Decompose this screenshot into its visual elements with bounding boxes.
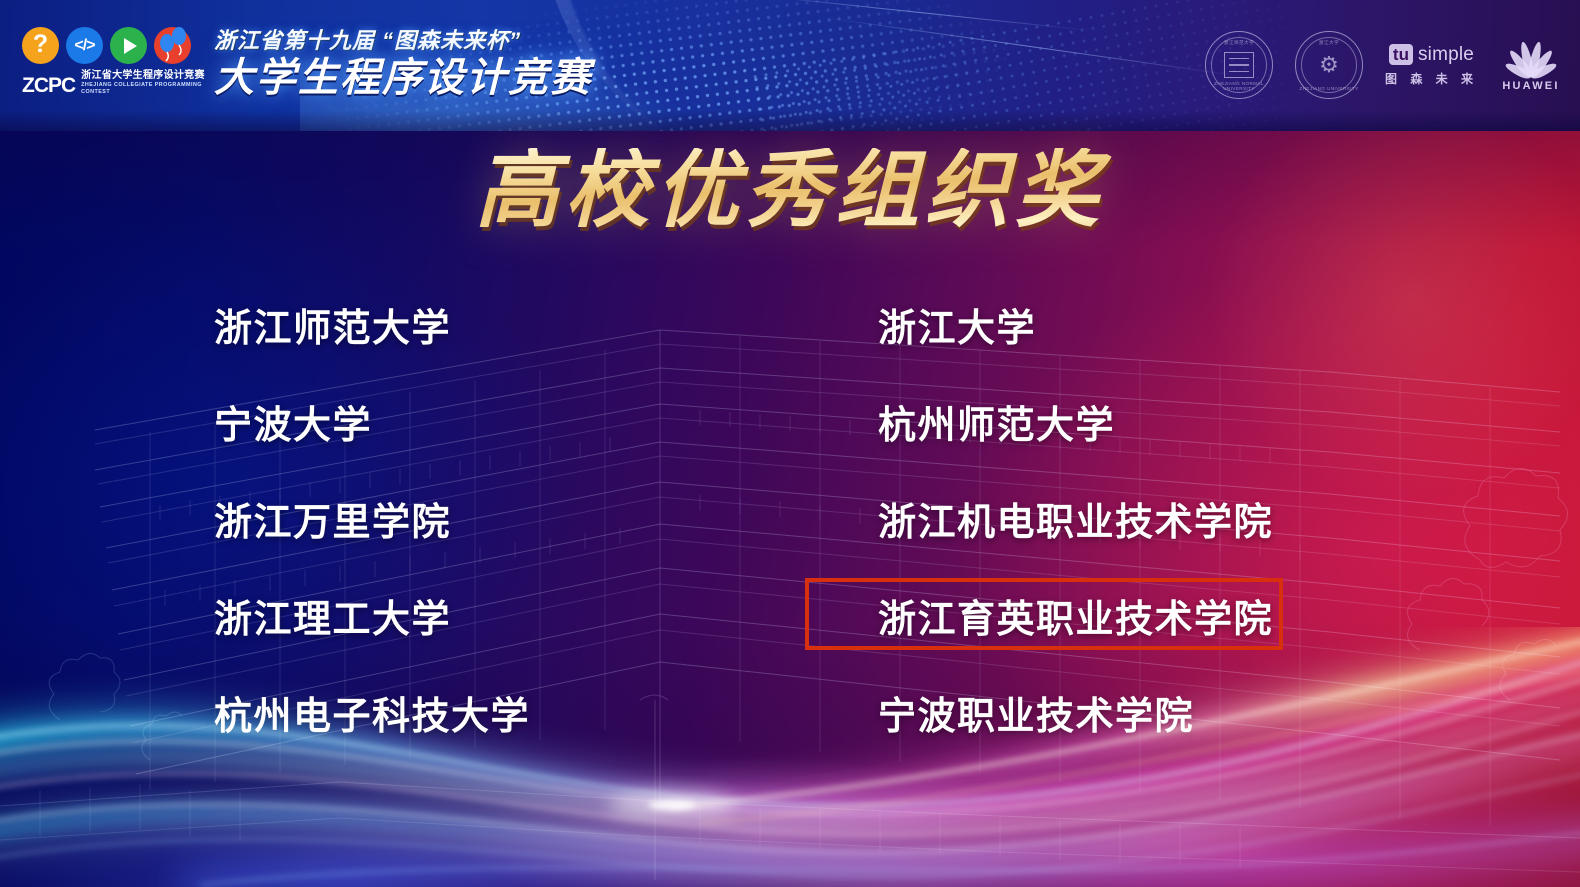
zcpc-icon-row: ? </> [22, 27, 207, 64]
tusimple-badge: tu [1389, 44, 1413, 65]
zcpc-chinese-name: 浙江省大学生程序设计竞赛 [81, 70, 207, 82]
zhejiang-normal-university-seal-icon: 浙江师范大学 ZHEJIANG NORMAL UNIVERSITY [1205, 31, 1273, 99]
slide-root: ? </> ZCPC 浙江省大学生程序设计竞赛 ZHEJIANG COLLEGI [0, 0, 1580, 887]
code-brackets-icon: </> [66, 27, 103, 64]
balloons-icon [154, 27, 191, 64]
list-item: 杭州师范大学 [878, 373, 1273, 470]
light-streaks [0, 627, 1580, 887]
tusimple-word: simple [1418, 44, 1474, 66]
list-item: 浙江大学 [878, 276, 1273, 373]
question-mark-icon: ? [22, 27, 59, 64]
tusimple-chinese-name: 图 森 未 来 [1385, 70, 1478, 87]
header-bottom-fade [0, 110, 1580, 131]
zcpc-english-name: ZHEJIANG COLLEGIATE PROGRAMMING CONTEST [81, 82, 207, 96]
tusimple-logo: tu simple 图 森 未 来 [1385, 44, 1478, 87]
tusimple-wordmark: tu simple [1389, 44, 1474, 66]
seal-inner-emblem [1224, 52, 1254, 78]
header-bar: ? </> ZCPC 浙江省大学生程序设计竞赛 ZHEJIANG COLLEGI [0, 0, 1580, 131]
list-item: 浙江机电职业技术学院 [878, 470, 1273, 567]
huawei-logo: HUAWEI [1500, 39, 1562, 92]
huawei-flower-icon [1500, 39, 1562, 77]
play-icon [110, 27, 147, 64]
zcpc-logo: ? </> ZCPC 浙江省大学生程序设计竞赛 ZHEJIANG COLLEGI [22, 27, 207, 115]
huawei-wordmark: HUAWEI [1502, 80, 1559, 92]
seal-bottom-text: ZHEJIANG UNIVERSITY [1296, 86, 1362, 91]
seal-bottom-text: ZHEJIANG NORMAL UNIVERSITY [1206, 81, 1272, 91]
seal-top-text: 浙江师范大学 [1206, 40, 1272, 46]
seal-top-text: 浙江大学 [1296, 40, 1362, 46]
header-title-block: 浙江省第十九届 “图森未来杯” 大学生程序设计竞赛 [214, 30, 592, 100]
seal-eagle-emblem: ⚙ [1319, 54, 1339, 76]
zcpc-wordmark: ZCPC 浙江省大学生程序设计竞赛 ZHEJIANG COLLEGIATE PR… [22, 70, 207, 96]
zhejiang-university-seal-icon: 浙江大学 ⚙ ZHEJIANG UNIVERSITY [1295, 31, 1363, 99]
list-item: 浙江师范大学 [214, 276, 530, 373]
contest-subtitle: 浙江省第十九届 “图森未来杯” [214, 30, 592, 52]
sponsor-logo-row: 浙江师范大学 ZHEJIANG NORMAL UNIVERSITY 浙江大学 ⚙… [1205, 28, 1562, 102]
zcpc-acronym: ZCPC [22, 75, 75, 96]
contest-title: 大学生程序设计竞赛 [214, 57, 592, 100]
list-item: 浙江万里学院 [214, 470, 530, 567]
list-item: 宁波大学 [214, 373, 530, 470]
page-title: 高校优秀组织奖 [0, 148, 1580, 232]
